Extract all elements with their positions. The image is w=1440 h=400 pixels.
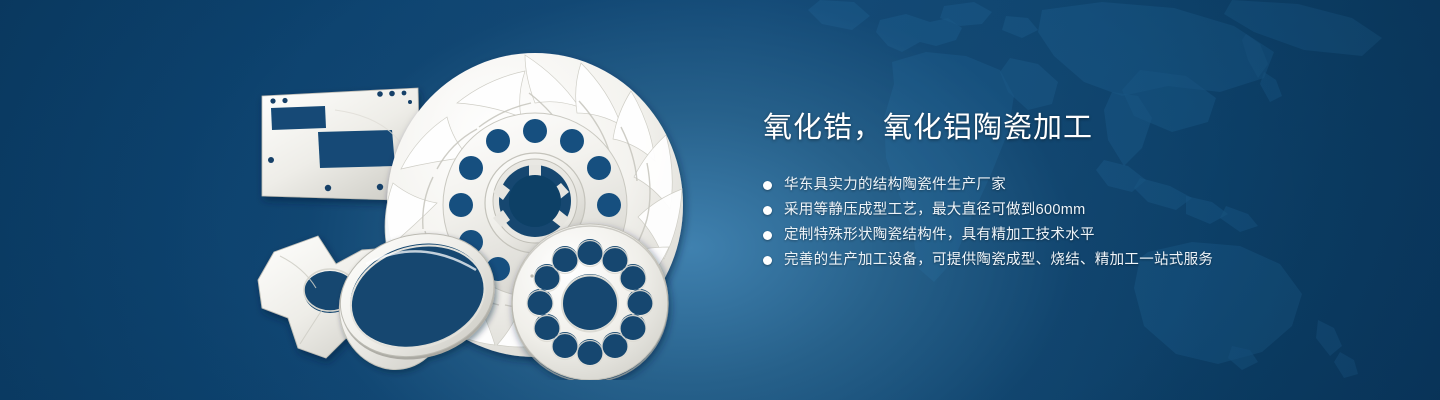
list-item: 采用等静压成型工艺，最大直径可做到600mm bbox=[763, 199, 1383, 222]
hero-banner: 氧化锆，氧化铝陶瓷加工 华东具实力的结构陶瓷件生产厂家 采用等静压成型工艺，最大… bbox=[0, 0, 1440, 400]
list-item-label: 华东具实力的结构陶瓷件生产厂家 bbox=[784, 174, 1006, 197]
list-item-label: 定制特殊形状陶瓷结构件，具有精加工技术水平 bbox=[784, 224, 1095, 247]
banner-text-column: 氧化锆，氧化铝陶瓷加工 华东具实力的结构陶瓷件生产厂家 采用等静压成型工艺，最大… bbox=[763, 108, 1383, 274]
bullet-dot-icon bbox=[763, 256, 772, 265]
list-item: 定制特殊形状陶瓷结构件，具有精加工技术水平 bbox=[763, 224, 1383, 247]
ceramic-perforated-disc bbox=[512, 224, 668, 380]
list-item-label: 采用等静压成型工艺，最大直径可做到600mm bbox=[784, 199, 1085, 222]
product-photo-cluster bbox=[240, 40, 700, 380]
list-item-label: 完善的生产加工设备，可提供陶瓷成型、烧结、精加工一站式服务 bbox=[784, 249, 1213, 272]
feature-list: 华东具实力的结构陶瓷件生产厂家 采用等静压成型工艺，最大直径可做到600mm 定… bbox=[763, 174, 1383, 272]
bullet-dot-icon bbox=[763, 206, 772, 215]
bullet-dot-icon bbox=[763, 181, 772, 190]
list-item: 完善的生产加工设备，可提供陶瓷成型、烧结、精加工一站式服务 bbox=[763, 249, 1383, 272]
page-title: 氧化锆，氧化铝陶瓷加工 bbox=[763, 108, 1383, 148]
bullet-dot-icon bbox=[763, 231, 772, 240]
list-item: 华东具实力的结构陶瓷件生产厂家 bbox=[763, 174, 1383, 197]
